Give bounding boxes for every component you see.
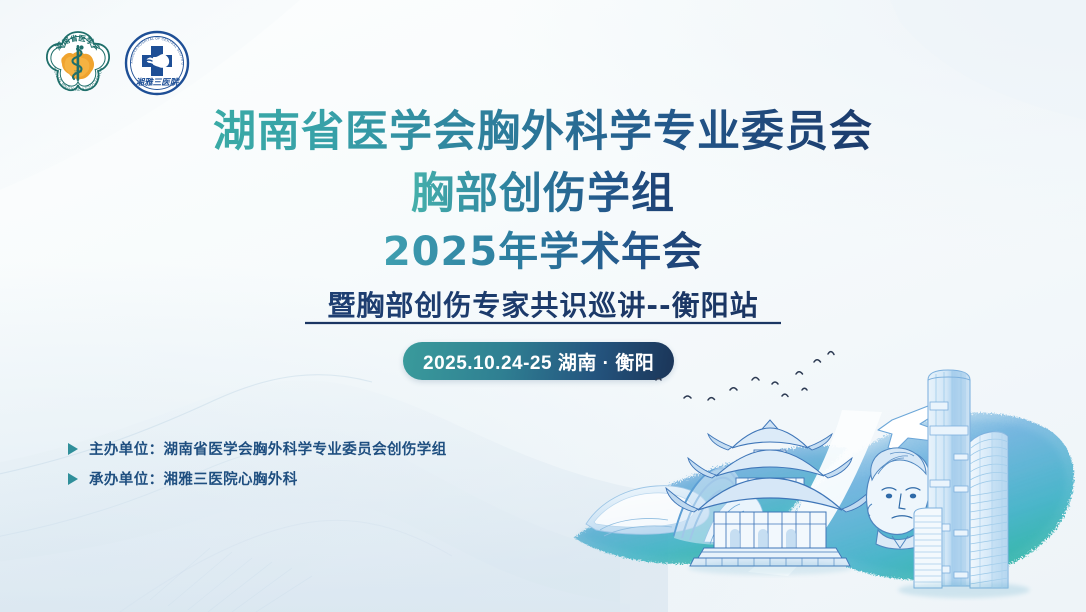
ifs-tower-t2 — [970, 431, 1008, 588]
hunan-medical-association-logo: 湖南省医学会 HUNAN MEDICAL ASSOCIATION 1916 — [42, 27, 114, 99]
third-xiangya-hospital-logo: THE THIRD XIANGYA HOSPITAL OF CENTRAL SO… — [122, 28, 192, 98]
organiser-row-organizer: 承办单位： 湘雅三医院心胸外科 — [68, 468, 447, 489]
triangle-bullet-icon — [68, 473, 78, 485]
logo-row: 湖南省医学会 HUNAN MEDICAL ASSOCIATION 1916 — [42, 27, 192, 99]
headline-block: 湖南省医学会胸外科学专业委员会 胸部创伤学组 2025年学术年会 暨胸部创伤专家… — [0, 104, 1086, 334]
right-watercolor-wash — [788, 413, 1074, 580]
ifs-tower-t1 — [914, 370, 970, 588]
host-label: 主办单位： — [89, 438, 164, 459]
svg-text:1916: 1916 — [74, 69, 82, 73]
svg-text:湘雅三医院: 湘雅三医院 — [136, 77, 180, 87]
airplane-icon — [878, 406, 948, 450]
headline-line-4: 暨胸部创伤专家共识巡讲--衡阳站 — [327, 289, 758, 322]
left-watercolor-wash — [574, 446, 848, 564]
conference-poster: 湖南省医学会 HUNAN MEDICAL ASSOCIATION 1916 — [0, 0, 1086, 612]
headline-line-1: 湖南省医学会胸外科学专业委员会 — [213, 107, 873, 157]
flying-birds — [656, 352, 834, 400]
headline-svg: 湖南省医学会胸外科学专业委员会 胸部创伤学组 2025年学术年会 暨胸部创伤专家… — [0, 104, 1086, 334]
organizer-label: 承办单位： — [89, 468, 164, 489]
headline-line-3: 2025年学术年会 — [383, 229, 703, 275]
date-location-text: 2025.10.24-25 湖南 · 衡阳 — [423, 348, 654, 375]
organiser-row-host: 主办单位： 湖南省医学会胸外科学专业委员会创伤学组 — [68, 438, 447, 459]
triangle-bullet-icon — [68, 443, 78, 455]
organizer-value: 湘雅三医院心胸外科 — [164, 468, 298, 489]
mao-sculpture-head — [866, 448, 930, 549]
date-location-badge: 2025.10.24-25 湖南 · 衡阳 — [403, 342, 674, 380]
organisers-block: 主办单位： 湖南省医学会胸外科学专业委员会创伤学组 承办单位： 湘雅三医院心胸外… — [68, 438, 447, 489]
host-value: 湖南省医学会胸外科学专业委员会创伤学组 — [164, 438, 447, 459]
headline-line-2: 胸部创伤学组 — [411, 169, 675, 219]
yueyang-pagoda — [666, 420, 874, 566]
meixi-lake-arts-centre — [586, 467, 764, 558]
